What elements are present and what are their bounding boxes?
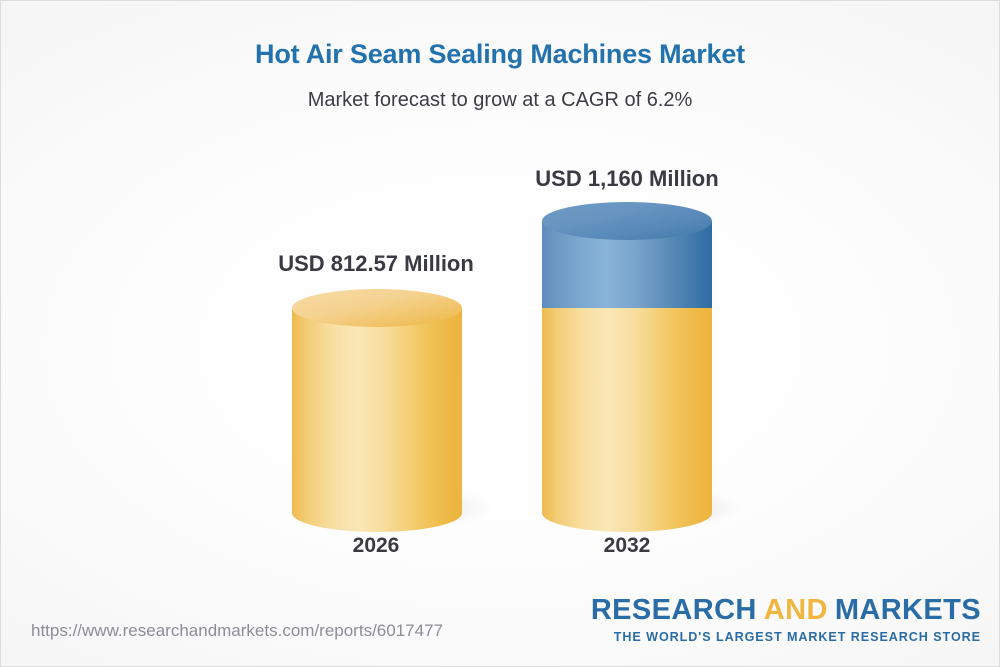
bar-value-label-2026: USD 812.57 Million bbox=[241, 251, 511, 277]
cylinder-body-2026 bbox=[292, 308, 462, 513]
logo-research-text: RESEARCH bbox=[591, 594, 757, 626]
bar-value-label-2032: USD 1,160 Million bbox=[492, 166, 762, 192]
category-label-2032: 2032 bbox=[492, 534, 762, 558]
cylinder-top-ellipse-2026 bbox=[292, 289, 462, 327]
cylinder-2032 bbox=[542, 202, 712, 515]
report-url[interactable]: https://www.researchandmarkets.com/repor… bbox=[31, 621, 443, 641]
plot-area: USD 812.57 Million 2026 USD 1,160 Millio… bbox=[1, 1, 999, 666]
bar-group-2032: USD 1,160 Million 2032 bbox=[492, 151, 762, 571]
logo-and-text: AND bbox=[757, 594, 835, 626]
logo-wordmark: RESEARCHANDMARKETS bbox=[591, 596, 981, 625]
logo-markets-text: MARKETS bbox=[835, 594, 981, 626]
chart-page: Hot Air Seam Sealing Machines Market Mar… bbox=[0, 0, 1000, 667]
category-label-2026: 2026 bbox=[241, 534, 511, 558]
research-and-markets-logo[interactable]: RESEARCHANDMARKETS THE WORLD'S LARGEST M… bbox=[591, 596, 981, 644]
cylinder-segment-base-2032 bbox=[542, 308, 712, 513]
cylinder-2026 bbox=[292, 289, 462, 515]
cylinder-top-ellipse-2032 bbox=[542, 202, 712, 240]
bar-group-2026: USD 812.57 Million 2026 bbox=[241, 151, 511, 571]
logo-tagline: THE WORLD'S LARGEST MARKET RESEARCH STOR… bbox=[591, 630, 981, 644]
